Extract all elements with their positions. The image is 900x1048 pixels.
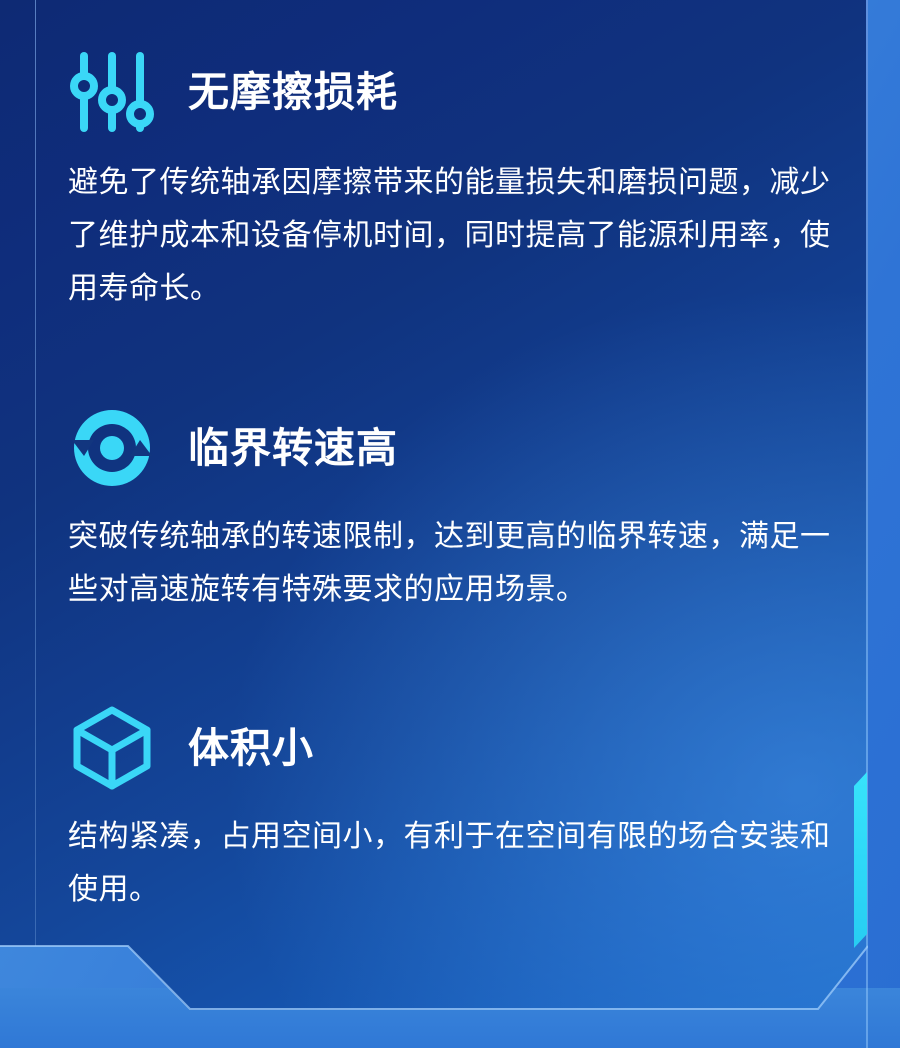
feature-item-critical-speed: 临界转速高 突破传统轴承的转速限制，达到更高的临界转速，满足一些对高速旋转有特殊… <box>68 400 848 616</box>
rotation-speed-icon <box>68 404 160 492</box>
feature-header: 体积小 <box>68 700 848 796</box>
feature-description: 突破传统轴承的转速限制，达到更高的临界转速，满足一些对高速旋转有特殊要求的应用场… <box>68 510 840 616</box>
cube-icon <box>68 704 160 792</box>
sliders-icon <box>68 48 160 136</box>
feature-description: 结构紧凑，占用空间小，有利于在空间有限的场合安装和使用。 <box>68 810 840 916</box>
feature-page: 无摩擦损耗 避免了传统轴承因摩擦带来的能量损失和磨损问题，减少了维护成本和设备停… <box>0 0 900 1048</box>
feature-description: 避免了传统轴承因摩擦带来的能量损失和磨损问题，减少了维护成本和设备停机时间，同时… <box>68 156 840 315</box>
feature-item-frictionless: 无摩擦损耗 避免了传统轴承因摩擦带来的能量损失和磨损问题，减少了维护成本和设备停… <box>68 44 848 315</box>
feature-title: 临界转速高 <box>188 428 398 469</box>
feature-title: 体积小 <box>188 728 314 769</box>
feature-title: 无摩擦损耗 <box>188 72 398 113</box>
feature-item-compact-size: 体积小 结构紧凑，占用空间小，有利于在空间有限的场合安装和使用。 <box>68 700 848 916</box>
feature-header: 临界转速高 <box>68 400 848 496</box>
feature-header: 无摩擦损耗 <box>68 44 848 140</box>
feature-list: 无摩擦损耗 避免了传统轴承因摩擦带来的能量损失和磨损问题，减少了维护成本和设备停… <box>0 0 868 1010</box>
